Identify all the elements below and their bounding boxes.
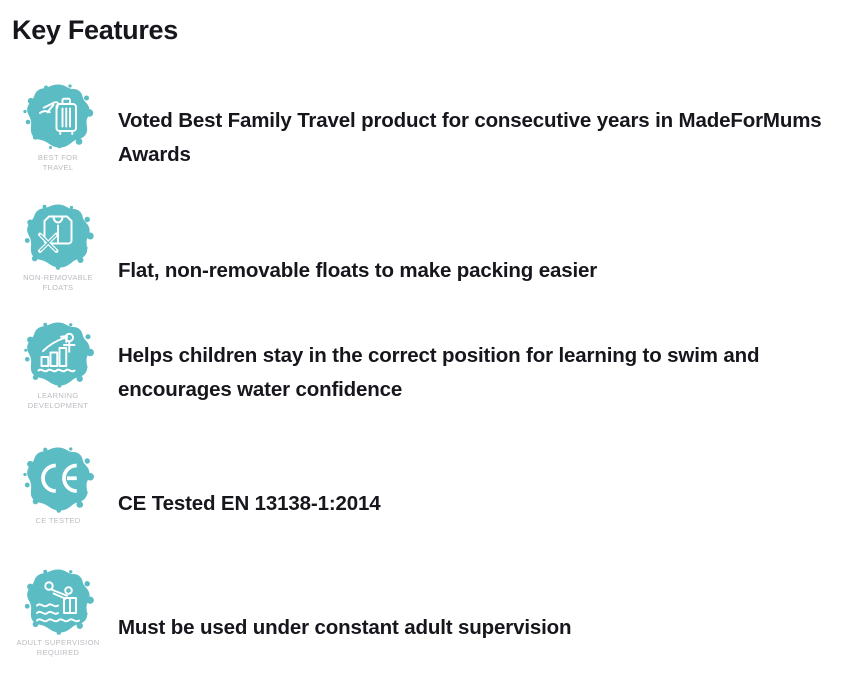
feature-icon-caption: ADULT SUPERVISION REQUIRED — [0, 638, 116, 658]
feature-text: Voted Best Family Travel product for con… — [116, 74, 846, 172]
feature-icon-caption: BEST FOR TRAVEL — [0, 153, 116, 173]
feature-icon-cell: ADULT SUPERVISION REQUIRED — [0, 559, 116, 658]
feature-icon-cell: LEARNING DEVELOPMENT — [0, 312, 116, 411]
features-list: BEST FOR TRAVEL Voted Best Family Travel… — [0, 74, 846, 669]
feature-icon-cell: NON-REMOVABLE FLOATS — [0, 194, 116, 293]
feature-item: LEARNING DEVELOPMENT Helps children stay… — [0, 312, 846, 437]
non-removable-floats-icon — [20, 200, 96, 272]
feature-item: BEST FOR TRAVEL Voted Best Family Travel… — [0, 74, 846, 194]
feature-text: Helps children stay in the correct posit… — [116, 312, 846, 407]
feature-icon-cell: BEST FOR TRAVEL — [0, 74, 116, 173]
feature-icon-caption: CE TESTED — [0, 516, 116, 526]
feature-text: Flat, non-removable floats to make packi… — [116, 194, 846, 288]
learning-development-icon — [20, 318, 96, 390]
feature-item: CE TESTED CE Tested EN 13138-1:2014 — [0, 437, 846, 559]
ce-tested-icon — [20, 443, 96, 515]
best-for-travel-icon — [20, 80, 96, 152]
page-title: Key Features — [12, 14, 178, 46]
feature-item: ADULT SUPERVISION REQUIRED Must be used … — [0, 559, 846, 669]
feature-icon-cell: CE TESTED — [0, 437, 116, 526]
feature-text: Must be used under constant adult superv… — [116, 559, 846, 645]
feature-text: CE Tested EN 13138-1:2014 — [116, 437, 846, 521]
key-features-panel: Key Features — [0, 0, 846, 691]
feature-item: NON-REMOVABLE FLOATS Flat, non-removable… — [0, 194, 846, 312]
feature-icon-caption: NON-REMOVABLE FLOATS — [0, 273, 116, 293]
feature-icon-caption: LEARNING DEVELOPMENT — [0, 391, 116, 411]
adult-supervision-icon — [20, 565, 96, 637]
